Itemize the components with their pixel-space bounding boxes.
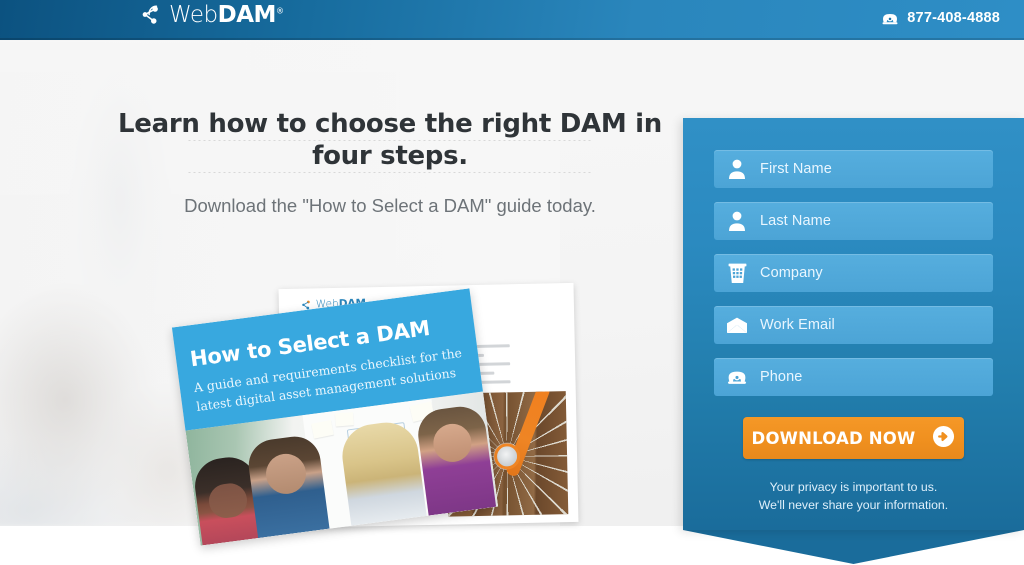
privacy-line-2: We'll never share your information. (714, 497, 993, 515)
arrow-right-circle-icon (932, 425, 955, 451)
webdam-logo[interactable]: WebDAM® (140, 3, 283, 26)
person-figure (246, 433, 330, 538)
headline-line-1: Learn how to choose the right DAM in (110, 108, 670, 140)
subheadline-line-1: Download the "How to Select a DAM" guide (184, 195, 542, 216)
person-icon (714, 211, 760, 231)
input-work-email-placeholder: Work Email (760, 317, 835, 333)
page-title: Learn how to choose the right DAM in fou… (110, 108, 670, 172)
ebook-cover: How to Select a DAM A guide and requirem… (172, 288, 498, 545)
privacy-note: Your privacy is important to us. We'll n… (714, 479, 993, 515)
headline-line-2: four steps. (110, 140, 670, 172)
phone-number: 877-408-4888 (907, 10, 1000, 26)
input-company[interactable]: Company (714, 254, 993, 292)
input-phone-placeholder: Phone (760, 369, 802, 385)
input-last-name-placeholder: Last Name (760, 213, 831, 229)
input-company-placeholder: Company (760, 265, 823, 281)
site-header: WebDAM® 877-408-4888 (0, 0, 1024, 40)
privacy-line-1: Your privacy is important to us. (714, 479, 993, 497)
download-now-button[interactable]: DOWNLOAD NOW (743, 417, 964, 459)
panel-arrow-bottom (683, 530, 1024, 564)
input-first-name[interactable]: First Name (714, 150, 993, 188)
sticky-note (335, 412, 354, 426)
telephone-icon (881, 11, 899, 26)
webdam-network-icon (140, 4, 162, 26)
ebook-artwork: WebDAM How to Select a DAM A guide and r… (185, 283, 605, 531)
telephone-icon (714, 368, 760, 386)
envelope-icon (714, 317, 760, 334)
hero-copy: Learn how to choose the right DAM in fou… (110, 108, 670, 219)
download-now-label: DOWNLOAD NOW (752, 429, 916, 448)
header-phone[interactable]: 877-408-4888 (881, 10, 1000, 26)
webdam-logo-text: WebDAM® (169, 4, 283, 27)
lead-form: First Name Last Name (683, 118, 1024, 530)
landing-page: WebDAM® 877-408-4888 Learn how to choose… (0, 0, 1024, 565)
input-first-name-placeholder: First Name (760, 161, 832, 177)
page-subtitle: Download the "How to Select a DAM" guide… (110, 194, 670, 219)
lead-capture-panel: First Name Last Name (683, 118, 1024, 530)
subheadline-line-2: today. (547, 195, 596, 216)
input-phone[interactable]: Phone (714, 358, 993, 396)
building-icon (714, 263, 760, 283)
input-last-name[interactable]: Last Name (714, 202, 993, 240)
person-icon (714, 159, 760, 179)
input-work-email[interactable]: Work Email (714, 306, 993, 344)
